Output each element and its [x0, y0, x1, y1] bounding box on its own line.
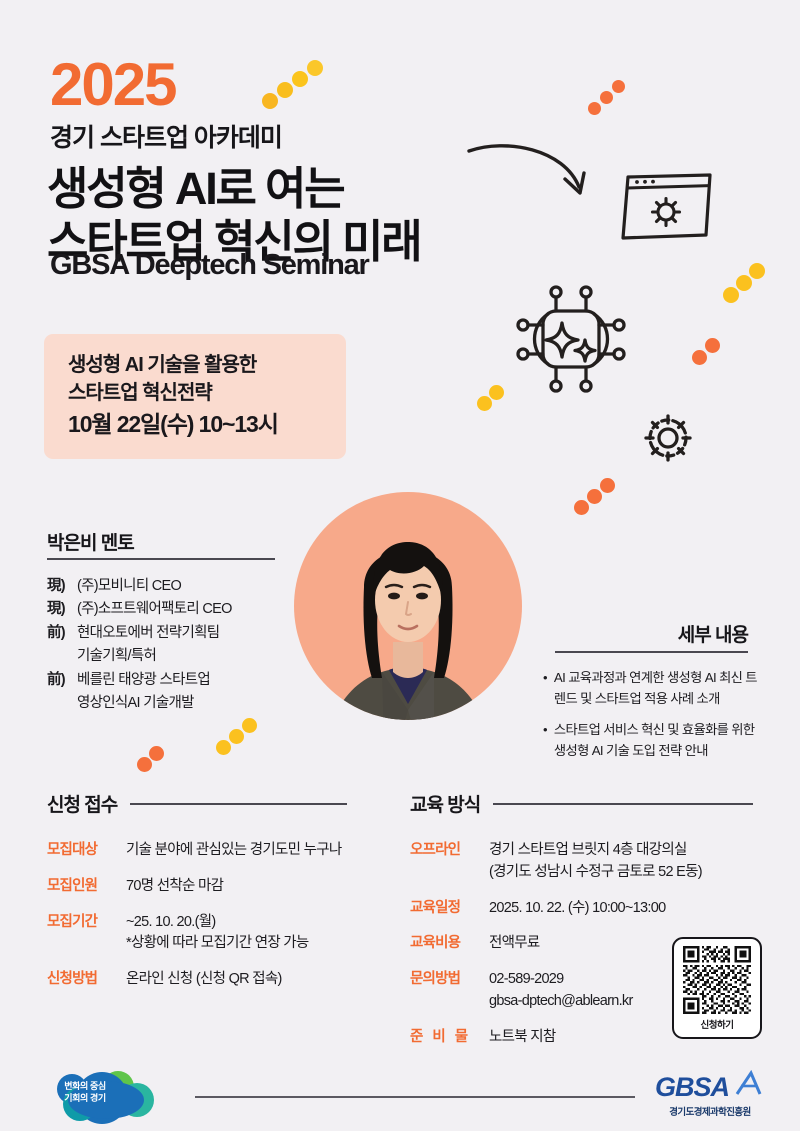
- poster-subhead: GBSA Deeptech Seminar: [50, 251, 369, 280]
- application-divider: [130, 803, 347, 805]
- field-value: 온라인 신청 (신청 QR 접속): [126, 969, 282, 991]
- application-title: 신청 접수: [47, 790, 117, 817]
- footer-divider: [195, 1096, 635, 1098]
- list-item: 前) 현대오토에버 전략기획팀: [47, 622, 292, 645]
- svg-text:GBSA: GBSA: [655, 1072, 729, 1102]
- details-item-text: AI 교육과정과 연계한 생성형 AI 최신 트렌드 및 스타트업 적용 사례 …: [554, 668, 758, 709]
- method-section-header: 교육 방식: [410, 790, 753, 817]
- list-item: • AI 교육과정과 연계한 생성형 AI 최신 트렌드 및 스타트업 적용 사…: [543, 668, 758, 709]
- list-item: 現) (주)모비니티 CEO: [47, 575, 292, 598]
- decorative-dot: [477, 396, 492, 411]
- highlight-line-2: 스타트업 혁신전략: [68, 379, 346, 407]
- field-value: 전액무료: [489, 933, 540, 955]
- decorative-dot: [489, 385, 504, 400]
- mentor-prefix: 前): [47, 622, 77, 645]
- decorative-dot: [137, 757, 152, 772]
- table-row: 오프라인 경기 스타트업 브릿지 4층 대강의실 (경기도 성남시 수정구 금토…: [410, 840, 755, 884]
- field-label: 교육비용: [410, 933, 489, 955]
- qr-code-icon[interactable]: [683, 946, 751, 1014]
- gear-icon: [640, 410, 696, 466]
- decorative-dot: [216, 740, 231, 755]
- poster-canvas: 2025 경기 스타트업 아카데미 생성형 AI로 여는 스타트업 혁신의 미래…: [0, 0, 800, 1131]
- mentor-prefix: 前): [47, 669, 77, 692]
- field-value: 2025. 10. 22. (수) 10:00~13:00: [489, 898, 665, 920]
- highlight-box: 생성형 AI 기술을 활용한 스타트업 혁신전략 10월 22일(수) 10~1…: [44, 334, 346, 459]
- highlight-line-1: 생성형 AI 기술을 활용한: [68, 351, 346, 379]
- application-field-list: 모집대상 기술 분야에 관심있는 경기도민 누구나 모집인원 70명 선착순 마…: [47, 840, 387, 1005]
- field-value: 기술 분야에 관심있는 경기도민 누구나: [126, 840, 342, 862]
- decorative-dot: [292, 71, 308, 87]
- qr-label: 신청하기: [701, 1017, 734, 1031]
- bullet-icon: •: [543, 668, 547, 709]
- portrait-photo: [294, 492, 522, 764]
- details-divider: [555, 651, 748, 653]
- list-item: 現) (주)소프트웨어팩토리 CEO: [47, 598, 292, 621]
- decorative-dot: [277, 82, 293, 98]
- decorative-dot: [612, 80, 625, 93]
- decorative-dot: [600, 478, 615, 493]
- mentor-text: (주)모비니티 CEO: [77, 575, 181, 598]
- field-label: 모집대상: [47, 840, 126, 862]
- mentor-prefix: 現): [47, 598, 77, 621]
- table-row: 모집기간 ~25. 10. 20.(월) *상황에 따라 모집기간 연장 가능: [47, 912, 387, 956]
- decorative-dot: [242, 718, 257, 733]
- mentor-text: 영상인식AI 기술개발: [77, 692, 194, 715]
- list-item: 영상인식AI 기술개발: [47, 692, 292, 715]
- list-item: 기술기획/특허: [47, 645, 292, 668]
- table-row: 모집대상 기술 분야에 관심있는 경기도민 누구나: [47, 840, 387, 862]
- mentor-section-header: 박은비 멘토: [47, 528, 275, 555]
- table-row: 신청방법 온라인 신청 (신청 QR 접속): [47, 969, 387, 991]
- ai-chip-icon: [512, 280, 630, 398]
- decorative-dot: [574, 500, 589, 515]
- field-value: 노트북 지참: [489, 1027, 556, 1049]
- decorative-dot: [749, 263, 765, 279]
- decorative-dot: [262, 93, 278, 109]
- highlight-line-3: 10월 22일(수) 10~13시: [68, 408, 346, 441]
- method-divider: [493, 803, 753, 805]
- mentor-title: 박은비 멘토: [47, 528, 134, 555]
- mentor-text: 기술기획/특허: [77, 645, 156, 668]
- curved-arrow-icon: [466, 143, 596, 205]
- gbsa-subtitle: 경기도경제과학진흥원: [655, 1104, 765, 1118]
- field-label: 모집인원: [47, 876, 126, 898]
- bullet-icon: •: [543, 720, 547, 761]
- mentor-text: 현대오토에버 전략기획팀: [77, 622, 219, 645]
- decorative-dot: [600, 91, 613, 104]
- field-label: 준 비 물: [410, 1027, 489, 1049]
- poster-year: 2025: [50, 55, 175, 115]
- field-label: 모집기간: [47, 912, 126, 956]
- field-label: 신청방법: [47, 969, 126, 991]
- list-item: 前) 베를린 태양광 스타트업: [47, 669, 292, 692]
- field-value: 02-589-2029 gbsa-dptech@ablearn.kr: [489, 969, 633, 1013]
- decorative-dot: [149, 746, 164, 761]
- decorative-dot: [588, 102, 601, 115]
- gbsa-wordmark-logo: GBSA: [655, 1070, 765, 1104]
- table-row: 모집인원 70명 선착순 마감: [47, 876, 387, 898]
- table-row: 교육일정 2025. 10. 22. (수) 10:00~13:00: [410, 898, 755, 920]
- decorative-dot: [705, 338, 720, 353]
- mentor-text: 베를린 태양광 스타트업: [77, 669, 210, 692]
- mentor-divider: [47, 558, 275, 560]
- application-section-header: 신청 접수: [47, 790, 347, 817]
- application-qr-code[interactable]: 신청하기: [672, 937, 762, 1039]
- mentor-text: (주)소프트웨어팩토리 CEO: [77, 598, 232, 621]
- field-value: ~25. 10. 20.(월) *상황에 따라 모집기간 연장 가능: [126, 912, 309, 956]
- decorative-dot: [736, 275, 752, 291]
- field-label: 오프라인: [410, 840, 489, 884]
- mentor-credentials-list: 現) (주)모비니티 CEO 現) (주)소프트웨어팩토리 CEO 前) 현대오…: [47, 575, 292, 716]
- poster-kicker: 경기 스타트업 아카데미: [50, 126, 282, 151]
- field-label: 문의방법: [410, 969, 489, 1013]
- details-item-text: 스타트업 서비스 혁신 및 효율화를 위한 생성형 AI 기술 도입 전략 안내: [554, 720, 758, 761]
- details-bullet-list: • AI 교육과정과 연계한 생성형 AI 최신 트렌드 및 스타트업 적용 사…: [543, 668, 758, 772]
- decorative-dot: [692, 350, 707, 365]
- details-section-header: 세부 내용: [555, 620, 748, 647]
- details-title: 세부 내용: [678, 620, 748, 647]
- browser-gear-icon: [618, 172, 716, 242]
- decorative-dot: [587, 489, 602, 504]
- decorative-dot: [723, 287, 739, 303]
- mentor-prefix: 現): [47, 575, 77, 598]
- decorative-dot: [229, 729, 244, 744]
- list-item: • 스타트업 서비스 혁신 및 효율화를 위한 생성형 AI 기술 도입 전략 …: [543, 720, 758, 761]
- method-title: 교육 방식: [410, 790, 480, 817]
- field-value: 70명 선착순 마감: [126, 876, 223, 898]
- field-label: 교육일정: [410, 898, 489, 920]
- gyeonggi-logo-text: 변화의 중심 기회의 경기: [55, 1080, 115, 1105]
- decorative-dot: [307, 60, 323, 76]
- mentor-portrait: [294, 492, 522, 764]
- field-value: 경기 스타트업 브릿지 4층 대강의실 (경기도 성남시 수정구 금토로 52 …: [489, 840, 702, 884]
